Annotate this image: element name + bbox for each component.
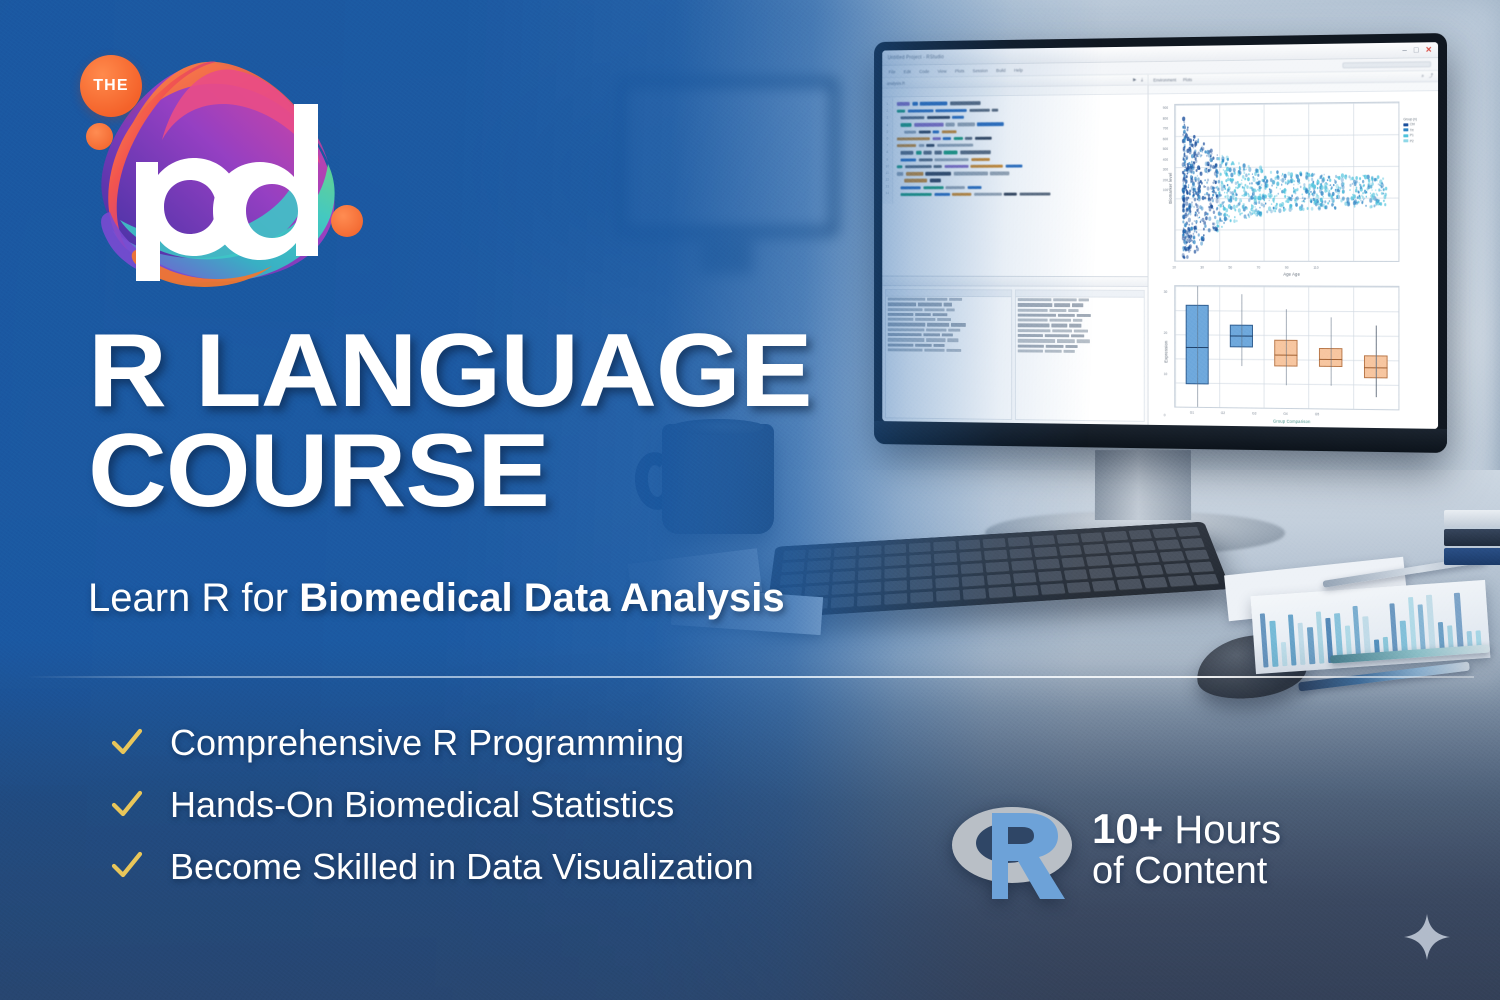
subtitle-lead: Learn R for (88, 576, 299, 620)
headline-line-1: R LANGUAGE (88, 322, 949, 422)
the-badge: THE (80, 55, 142, 117)
hours-text: 10+ Hours of Content (1092, 807, 1281, 892)
check-icon (110, 726, 144, 760)
four-point-star-icon (1402, 912, 1452, 962)
list-item: Comprehensive R Programming (110, 722, 970, 764)
hours-suffix: Hours (1163, 808, 1281, 852)
logo-dot-right (331, 205, 363, 237)
headline-line-2: COURSE (88, 422, 949, 522)
check-icon (110, 849, 144, 883)
list-item-label: Become Skilled in Data Visualization (170, 846, 754, 888)
poster-canvas: Untitled Project - RStudio – □ ✕ File Ed… (0, 0, 1500, 1000)
hours-line-2: of Content (1092, 851, 1281, 891)
subtitle-strong: Biomedical Data Analysis (299, 576, 784, 620)
list-item-label: Hands-On Biomedical Statistics (170, 784, 674, 826)
check-icon (110, 788, 144, 822)
r-hours-badge: 10+ Hours of Content (948, 795, 1281, 903)
logo-dot-small (86, 123, 113, 150)
brand-logo[interactable]: THE (66, 44, 366, 299)
page-title: R LANGUAGE COURSE (88, 322, 908, 522)
hours-line-1: 10+ Hours (1092, 807, 1281, 852)
r-language-logo (948, 795, 1076, 903)
subtitle: Learn R for Biomedical Data Analysis (88, 578, 988, 618)
feature-list: Comprehensive R Programming Hands-On Bio… (110, 722, 970, 907)
list-item-label: Comprehensive R Programming (170, 722, 684, 764)
hours-count: 10+ (1092, 805, 1163, 852)
section-divider (26, 676, 1474, 678)
list-item: Hands-On Biomedical Statistics (110, 784, 970, 826)
list-item: Become Skilled in Data Visualization (110, 846, 970, 888)
